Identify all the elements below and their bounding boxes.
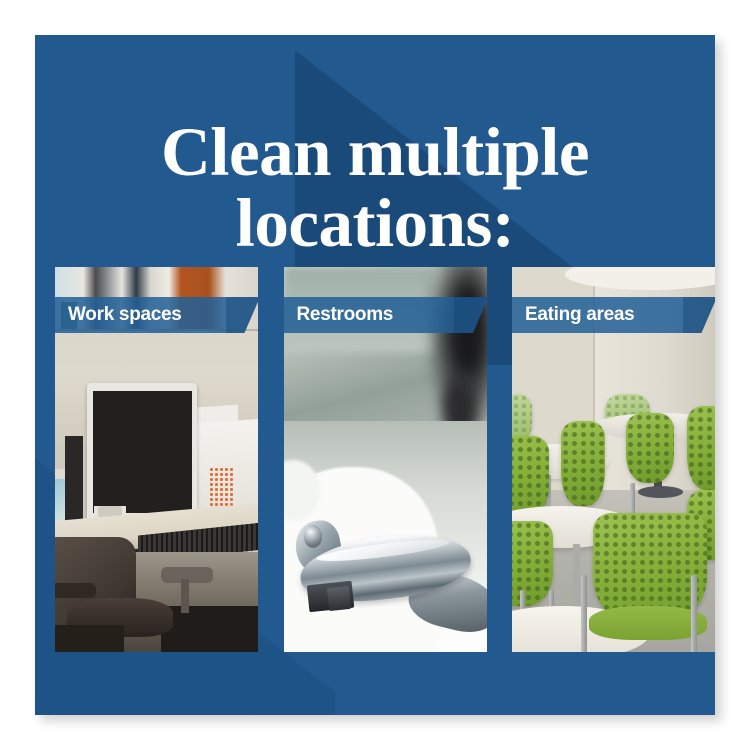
location-panel-group: Work spaces [55,267,715,652]
chair-right-edge [687,406,715,491]
photo-eating-areas [512,267,715,652]
floor-mat [161,606,258,652]
chair-armrest-post [181,579,189,614]
page-title: Clean multiple locations: [35,117,715,258]
location-panel-restrooms[interactable]: Restrooms [284,267,487,652]
green-book [61,302,77,329]
chair-armrest-left [55,583,96,598]
monitor-screen [93,391,192,512]
headline-line-1: Clean multiple [161,114,589,190]
chair-foreground-leg-left [581,575,587,652]
faucet-cap [304,525,322,548]
faucet-aerator-detail [327,585,352,610]
chair-mid-right [626,413,675,482]
chair-left-lower [512,521,553,606]
location-panel-eating-areas[interactable]: Eating areas [512,267,715,652]
location-panel-work-spaces[interactable]: Work spaces [55,267,258,652]
product-feature-card: Clean multiple locations: [35,35,715,715]
chair-base [55,625,124,652]
chair-distant-2 [512,394,532,440]
chair-foreground-seat [589,606,707,641]
office-background-shelf [55,267,258,329]
chair-mid-center [561,421,606,506]
photo-work-spaces [55,267,258,652]
photo-restrooms [284,267,487,652]
screenshot-stage: Clean multiple locations: [0,0,750,750]
restroom-wall-blur [284,267,434,352]
headline-line-2: locations: [35,188,715,258]
table-back-right-base [638,486,683,498]
shelf-edge [55,329,258,331]
desk-speaker [65,436,83,521]
chair-foreground-leg-right [691,575,697,652]
